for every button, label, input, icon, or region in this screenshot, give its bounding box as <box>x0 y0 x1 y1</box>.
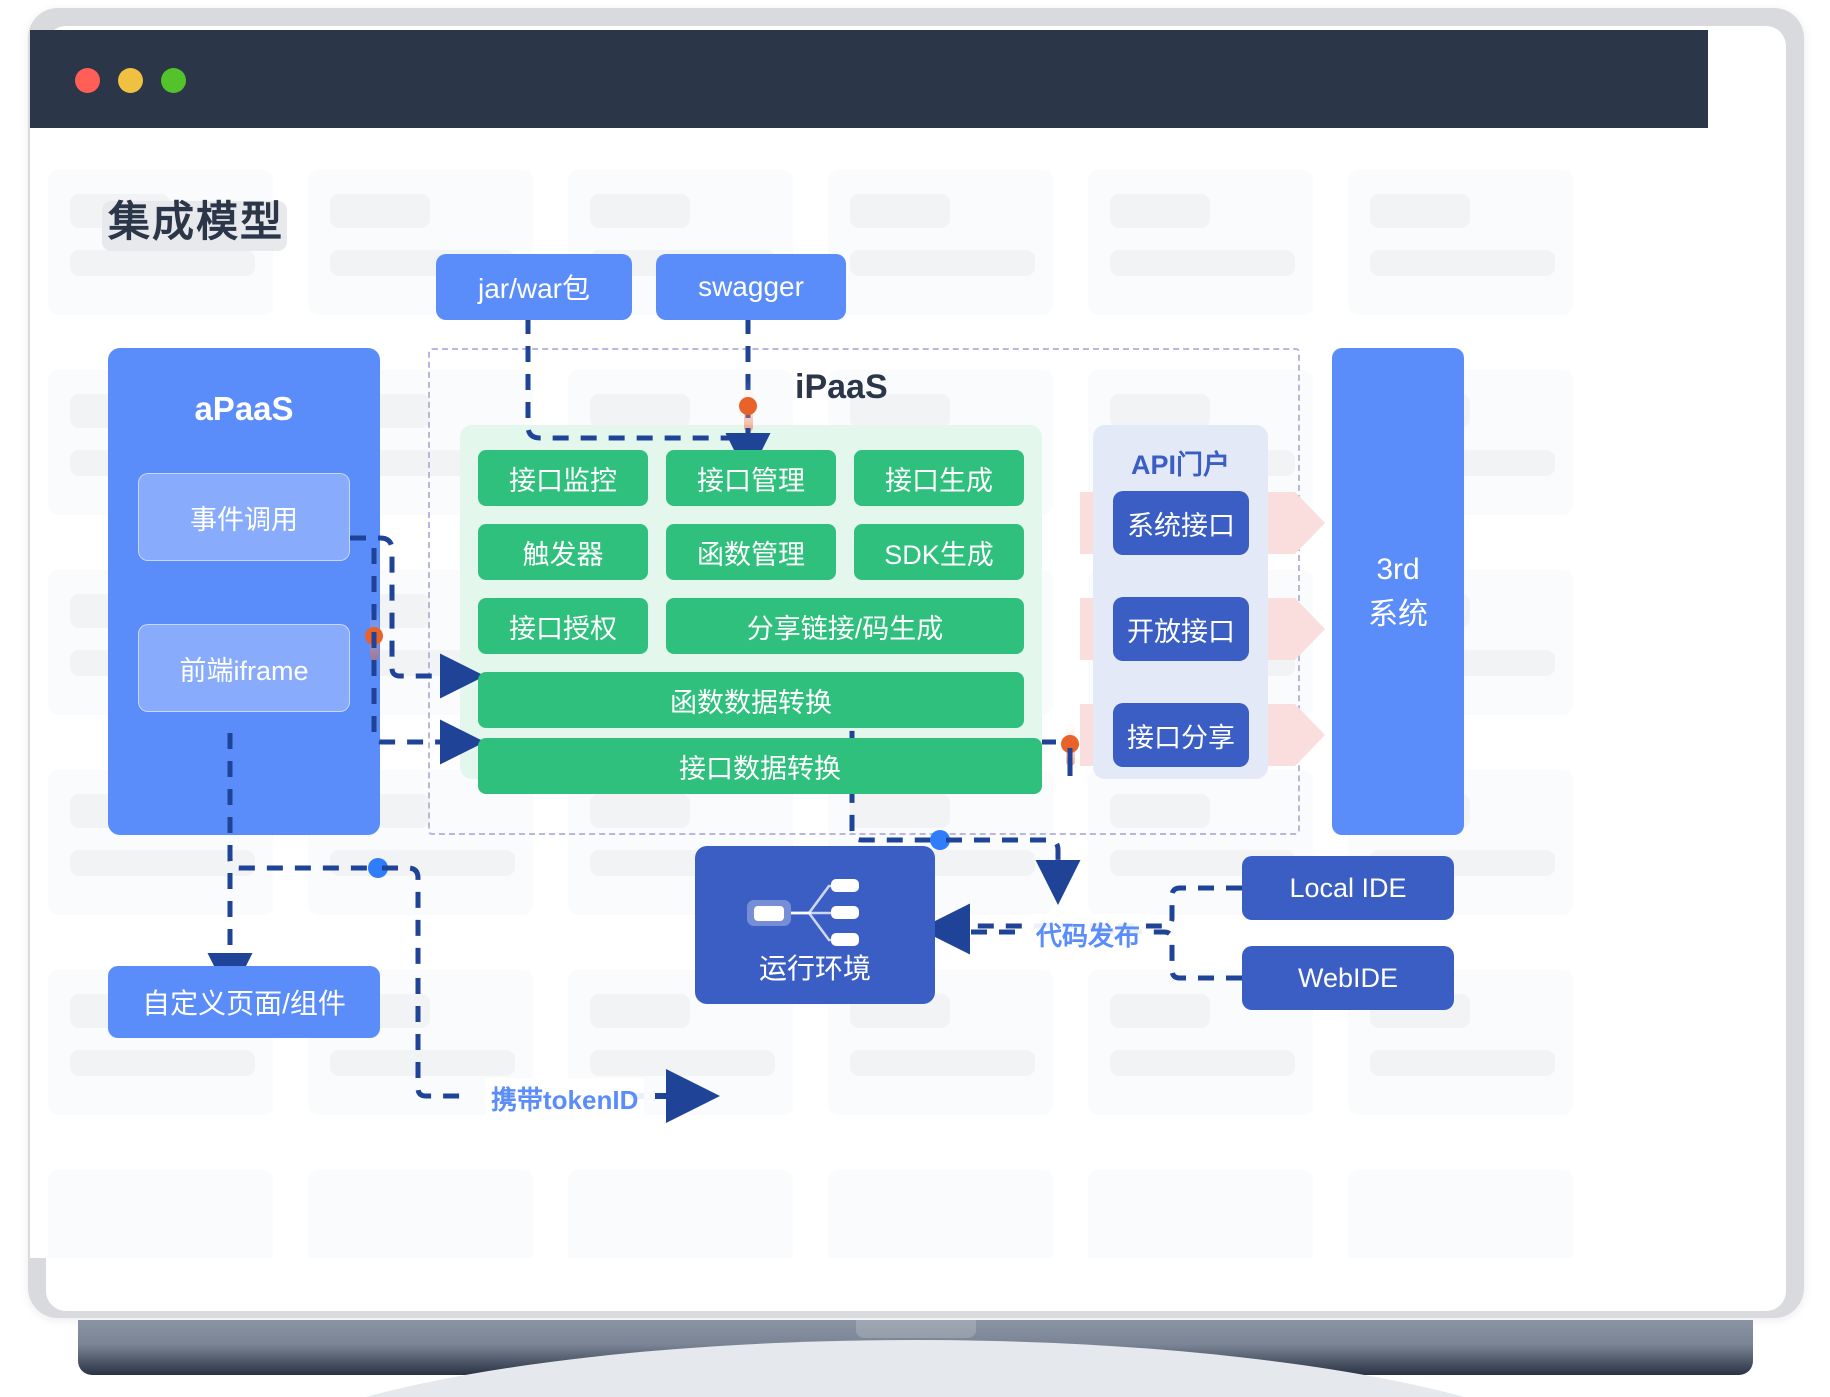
node-function-manage[interactable]: 函数管理 <box>666 524 836 580</box>
maximize-window-button[interactable] <box>161 68 186 93</box>
node-label: 接口生成 <box>885 459 993 498</box>
node-label: SDK生成 <box>884 533 994 572</box>
node-runtime-environment[interactable]: 运行环境 <box>695 846 935 1004</box>
minimize-window-button[interactable] <box>118 68 143 93</box>
node-label: 函数数据转换 <box>670 681 832 720</box>
close-window-button[interactable] <box>75 68 100 93</box>
node-label: 接口数据转换 <box>679 747 841 786</box>
third-system-line2: 系统 <box>1368 592 1428 637</box>
node-label: 接口管理 <box>697 459 805 498</box>
node-api-generate[interactable]: 接口生成 <box>854 450 1024 506</box>
node-label: 事件调用 <box>190 498 298 537</box>
node-label: WebIDE <box>1298 963 1398 994</box>
diagram-canvas: 集成模型 <box>30 128 1708 1258</box>
node-label: 开放接口 <box>1127 610 1235 649</box>
node-event-call[interactable]: 事件调用 <box>138 473 350 561</box>
node-share-link[interactable]: 分享链接/码生成 <box>666 598 1024 654</box>
edge-label-token-id: 携带tokenID <box>485 1078 644 1119</box>
node-api-share[interactable]: 接口分享 <box>1113 703 1249 767</box>
apaas-column: aPaaS <box>108 348 380 835</box>
node-label: swagger <box>698 271 804 303</box>
screenshot-root: 集成模型 <box>0 0 1830 1397</box>
edge-label-code-publish: 代码发布 <box>1030 914 1146 955</box>
node-label: Local IDE <box>1289 873 1406 904</box>
node-label: 运行环境 <box>695 947 935 987</box>
page-title: 集成模型 <box>108 188 284 249</box>
node-trigger[interactable]: 触发器 <box>478 524 648 580</box>
node-third-system[interactable]: 3rd 系统 <box>1332 348 1464 835</box>
node-function-data-transform[interactable]: 函数数据转换 <box>478 672 1024 728</box>
node-label: 前端iframe <box>179 649 308 688</box>
node-front-iframe[interactable]: 前端iframe <box>138 624 350 712</box>
node-system-api[interactable]: 系统接口 <box>1113 491 1249 555</box>
node-api-auth[interactable]: 接口授权 <box>478 598 648 654</box>
node-local-ide[interactable]: Local IDE <box>1242 856 1454 920</box>
node-label: 接口分享 <box>1127 716 1235 755</box>
node-label: 触发器 <box>523 533 604 572</box>
node-api-monitor[interactable]: 接口监控 <box>478 450 648 506</box>
node-label: 系统接口 <box>1127 504 1235 543</box>
node-sdk-generate[interactable]: SDK生成 <box>854 524 1024 580</box>
node-open-api[interactable]: 开放接口 <box>1113 597 1249 661</box>
node-api-manage[interactable]: 接口管理 <box>666 450 836 506</box>
node-custom-page[interactable]: 自定义页面/组件 <box>108 966 380 1038</box>
node-swagger[interactable]: swagger <box>656 254 846 320</box>
node-label: 接口授权 <box>509 607 617 646</box>
node-jar-war-package[interactable]: jar/war包 <box>436 254 632 320</box>
apaas-title: aPaaS <box>108 390 380 428</box>
node-web-ide[interactable]: WebIDE <box>1242 946 1454 1010</box>
node-label: 分享链接/码生成 <box>747 607 944 646</box>
node-api-data-transform[interactable]: 接口数据转换 <box>478 738 1042 794</box>
api-portal-title: API门户 <box>1093 443 1268 482</box>
node-label: 自定义页面/组件 <box>142 982 346 1022</box>
node-label: 接口监控 <box>509 459 617 498</box>
tree-hierarchy-icon <box>745 872 885 952</box>
laptop-base-notch <box>856 1320 976 1338</box>
node-label: jar/war包 <box>478 267 590 307</box>
third-system-line1: 3rd <box>1376 547 1419 592</box>
node-label: 函数管理 <box>697 533 805 572</box>
ipaas-title: iPaaS <box>795 368 888 407</box>
browser-titlebar <box>30 30 1708 128</box>
